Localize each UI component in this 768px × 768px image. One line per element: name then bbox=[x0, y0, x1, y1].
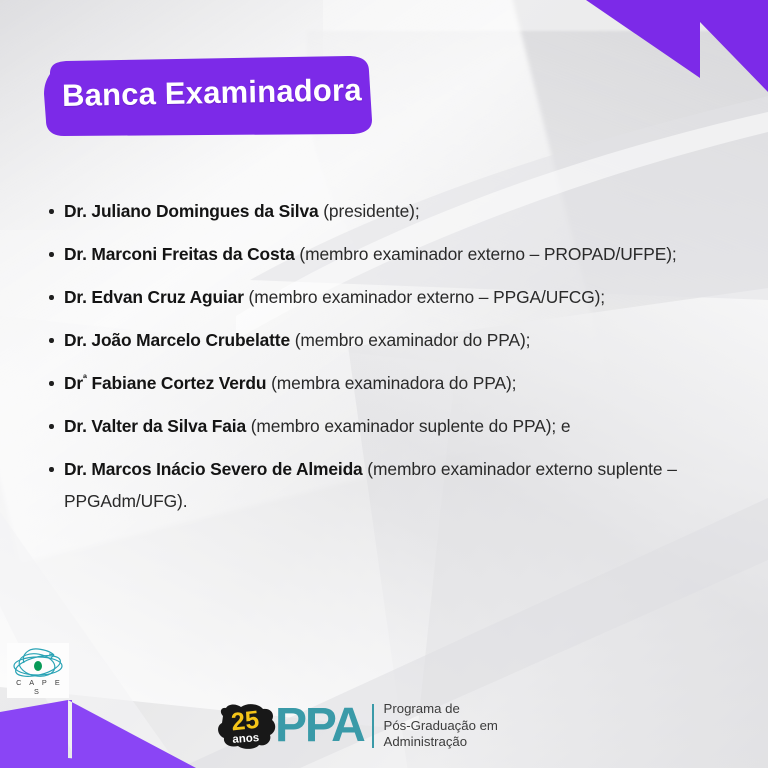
member-name: Dr. Valter da Silva Faia bbox=[64, 416, 246, 436]
purple-zigzag-top-right bbox=[586, 0, 768, 92]
list-item: Dr. Marconi Freitas da Costa (membro exa… bbox=[44, 238, 734, 270]
member-role: (presidente); bbox=[323, 201, 419, 221]
ppa-subtitle: Programa de Pós-Graduação em Administraç… bbox=[384, 701, 498, 751]
member-name: Dr. Marconi Freitas da Costa bbox=[64, 244, 295, 264]
member-role: (membro examinador suplente do PPA); e bbox=[251, 416, 571, 436]
ppa-anniversary-badge: 25 anos bbox=[215, 702, 279, 750]
member-name-rest: Fabiane Cortez Verdu bbox=[87, 373, 267, 393]
list-item: Dr. Valter da Silva Faia (membro examina… bbox=[44, 410, 734, 442]
list-item: Drª Fabiane Cortez Verdu (membra examina… bbox=[44, 367, 734, 399]
list-item: Dr. Juliano Domingues da Silva (presiden… bbox=[44, 195, 734, 227]
member-name: Dr. João Marcelo Crubelatte bbox=[64, 330, 290, 350]
banca-members-list: Dr. Juliano Domingues da Silva (presiden… bbox=[44, 195, 734, 528]
ppa-subtitle-line-1: Programa de bbox=[384, 701, 498, 718]
member-name: Dr. Juliano Domingues da Silva bbox=[64, 201, 319, 221]
title-badge: Banca Examinadora bbox=[36, 56, 374, 136]
member-name-prefix: Dr bbox=[64, 373, 83, 393]
anniversary-word: anos bbox=[232, 732, 260, 746]
page-title: Banca Examinadora bbox=[61, 50, 362, 136]
ppa-subtitle-line-2: Pós-Graduação em bbox=[384, 718, 498, 735]
list-item: Dr. Marcos Inácio Severo de Almeida (mem… bbox=[44, 453, 734, 517]
list-item: Dr. Edvan Cruz Aguiar (membro examinador… bbox=[44, 281, 734, 313]
anniversary-splat-icon: 25 anos bbox=[215, 702, 279, 750]
list-item: Dr. João Marcelo Crubelatte (membro exam… bbox=[44, 324, 734, 356]
member-role: (membro examinador externo – PPGA/UFCG); bbox=[249, 287, 606, 307]
member-name: Dr. Marcos Inácio Severo de Almeida bbox=[64, 459, 363, 479]
capes-logo: C A P E S bbox=[7, 643, 69, 698]
ppa-subtitle-line-3: Administração bbox=[384, 734, 498, 751]
member-role: (membra examinadora do PPA); bbox=[271, 373, 516, 393]
ppa-logo: 25 anos PPA Programa de Pós-Graduação em… bbox=[215, 698, 498, 754]
ppa-divider bbox=[372, 704, 374, 748]
ppa-acronym: PPA bbox=[275, 702, 364, 750]
member-role: (membro examinador externo – PROPAD/UFPE… bbox=[299, 244, 676, 264]
member-name: Dr. Edvan Cruz Aguiar bbox=[64, 287, 244, 307]
capes-wordmark: C A P E S bbox=[7, 678, 69, 696]
member-name: Drª Fabiane Cortez Verdu bbox=[64, 373, 266, 393]
member-role: (membro examinador do PPA); bbox=[295, 330, 531, 350]
slide-canvas: Banca Examinadora Dr. Juliano Domingues … bbox=[0, 0, 768, 768]
